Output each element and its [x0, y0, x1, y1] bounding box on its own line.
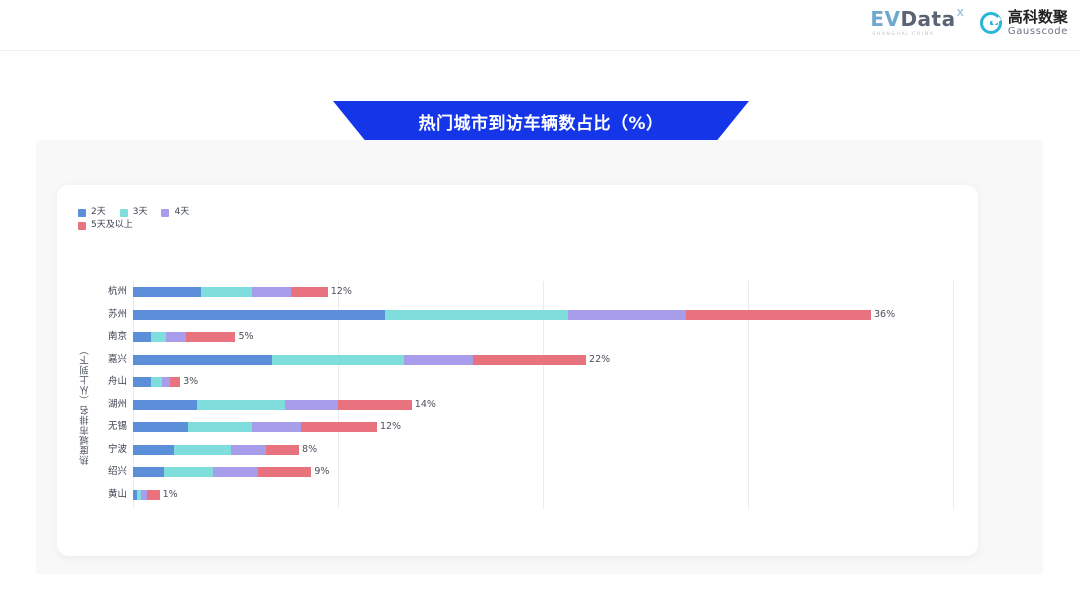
chart-title-banner: 热门城市到访车辆数占比（%）: [333, 101, 749, 142]
category-label-湖州: 湖州: [93, 394, 127, 416]
category-label-黄山: 黄山: [93, 484, 127, 506]
bar-segment-5天及以上[interactable]: [291, 287, 328, 297]
bar-segment-2天[interactable]: [133, 332, 151, 342]
bar-value-label: 14%: [415, 398, 436, 412]
category-label-苏州: 苏州: [93, 304, 127, 326]
chart-bar-row: 宁波8%: [57, 439, 978, 461]
evdata-logo-text: EVData: [870, 9, 955, 29]
bar-segment-5天及以上[interactable]: [186, 332, 235, 342]
category-label-舟山: 舟山: [93, 371, 127, 393]
bar-segment-4天[interactable]: [568, 310, 687, 320]
evdata-logo: EVData x SHANGHAI CHINA: [870, 9, 964, 37]
chart-bar-row: 南京5%: [57, 326, 978, 348]
gausscode-mark-icon: [980, 12, 1002, 34]
bar-segment-2天[interactable]: [133, 377, 151, 387]
stacked-bar[interactable]: [133, 332, 235, 342]
bar-segment-5天及以上[interactable]: [686, 310, 871, 320]
bar-value-label: 9%: [314, 465, 329, 479]
bar-segment-3天[interactable]: [197, 400, 285, 410]
stacked-bar[interactable]: [133, 400, 412, 410]
gausscode-logo-en: Gausscode: [1008, 27, 1068, 37]
bar-segment-3天[interactable]: [151, 377, 161, 387]
bar-value-label: 12%: [331, 285, 352, 299]
chart-bar-row: 嘉兴22%: [57, 349, 978, 371]
chart-bar-row: 杭州12%: [57, 281, 978, 303]
stacked-bar[interactable]: [133, 310, 871, 320]
stacked-bar[interactable]: [133, 445, 299, 455]
chart-bar-row: 舟山3%: [57, 371, 978, 393]
bar-segment-2天[interactable]: [133, 355, 272, 365]
evdata-logo-tagline: SHANGHAI CHINA: [872, 32, 934, 37]
chart-bar-row: 苏州36%: [57, 304, 978, 326]
bar-segment-3天[interactable]: [151, 332, 165, 342]
category-label-南京: 南京: [93, 326, 127, 348]
stacked-bar[interactable]: [133, 467, 311, 477]
chart-bar-row: 湖州14%: [57, 394, 978, 416]
bar-segment-2天[interactable]: [133, 445, 174, 455]
bar-segment-3天[interactable]: [174, 445, 231, 455]
bar-segment-5天及以上[interactable]: [301, 422, 377, 432]
bar-value-label: 3%: [183, 375, 198, 389]
bar-segment-4天[interactable]: [252, 287, 291, 297]
chart-card: 2天3天4天5天及以上 热度城市排名（从上到下） 杭州12%苏州36%南京5%嘉…: [57, 185, 978, 556]
bar-value-label: 8%: [302, 443, 317, 457]
bar-segment-4天[interactable]: [404, 355, 474, 365]
bar-segment-4天[interactable]: [285, 400, 338, 410]
bar-segment-3天[interactable]: [188, 422, 252, 432]
brand-logo-group: EVData x SHANGHAI CHINA 高科数聚 Gausscode: [870, 9, 1068, 37]
chart-bar-row: 绍兴9%: [57, 461, 978, 483]
bar-segment-4天[interactable]: [213, 467, 258, 477]
bar-value-label: 1%: [163, 488, 178, 502]
bar-segment-2天[interactable]: [133, 287, 201, 297]
bar-segment-3天[interactable]: [164, 467, 213, 477]
bar-segment-2天[interactable]: [133, 310, 385, 320]
bar-segment-5天及以上[interactable]: [338, 400, 412, 410]
bar-segment-2天[interactable]: [133, 422, 188, 432]
stacked-bar[interactable]: [133, 490, 160, 500]
bar-value-label: 5%: [239, 330, 254, 344]
bar-segment-5天及以上[interactable]: [473, 355, 586, 365]
bar-segment-5天及以上[interactable]: [258, 467, 311, 477]
category-label-宁波: 宁波: [93, 439, 127, 461]
bar-value-label: 36%: [874, 308, 895, 322]
stacked-bar[interactable]: [133, 422, 377, 432]
category-label-嘉兴: 嘉兴: [93, 349, 127, 371]
bar-value-label: 12%: [380, 420, 401, 434]
bar-segment-2天[interactable]: [133, 400, 197, 410]
bar-segment-5天及以上[interactable]: [147, 490, 159, 500]
bar-segment-3天[interactable]: [272, 355, 403, 365]
bar-segment-4天[interactable]: [166, 332, 187, 342]
evdata-logo-x-icon: x: [957, 5, 964, 18]
evdata-logo-data: Data: [900, 7, 955, 31]
bar-segment-4天[interactable]: [252, 422, 301, 432]
bar-segment-5天及以上[interactable]: [266, 445, 299, 455]
category-label-绍兴: 绍兴: [93, 461, 127, 483]
page-header: EVData x SHANGHAI CHINA 高科数聚 Gausscode: [0, 0, 1080, 51]
chart-bar-row: 无锡12%: [57, 416, 978, 438]
chart-bar-row: 黄山1%: [57, 484, 978, 506]
stacked-bar[interactable]: [133, 355, 586, 365]
gausscode-logo-cn: 高科数聚: [1008, 10, 1068, 25]
category-label-无锡: 无锡: [93, 416, 127, 438]
gausscode-logo-text: 高科数聚 Gausscode: [1008, 10, 1068, 37]
bar-segment-5天及以上[interactable]: [170, 377, 180, 387]
stacked-bar[interactable]: [133, 377, 180, 387]
evdata-logo-ev: EV: [870, 7, 900, 31]
category-label-杭州: 杭州: [93, 281, 127, 303]
stacked-bar[interactable]: [133, 287, 328, 297]
bar-segment-3天[interactable]: [201, 287, 252, 297]
bar-segment-4天[interactable]: [162, 377, 170, 387]
bar-segment-4天[interactable]: [231, 445, 266, 455]
gausscode-logo: 高科数聚 Gausscode: [980, 10, 1068, 37]
bar-value-label: 22%: [589, 353, 610, 367]
chart-plot-area: 热度城市排名（从上到下） 杭州12%苏州36%南京5%嘉兴22%舟山3%湖州14…: [57, 185, 978, 556]
bar-segment-3天[interactable]: [385, 310, 567, 320]
evdata-logo-wordmark: EVData x: [870, 9, 964, 29]
bar-segment-2天[interactable]: [133, 467, 164, 477]
